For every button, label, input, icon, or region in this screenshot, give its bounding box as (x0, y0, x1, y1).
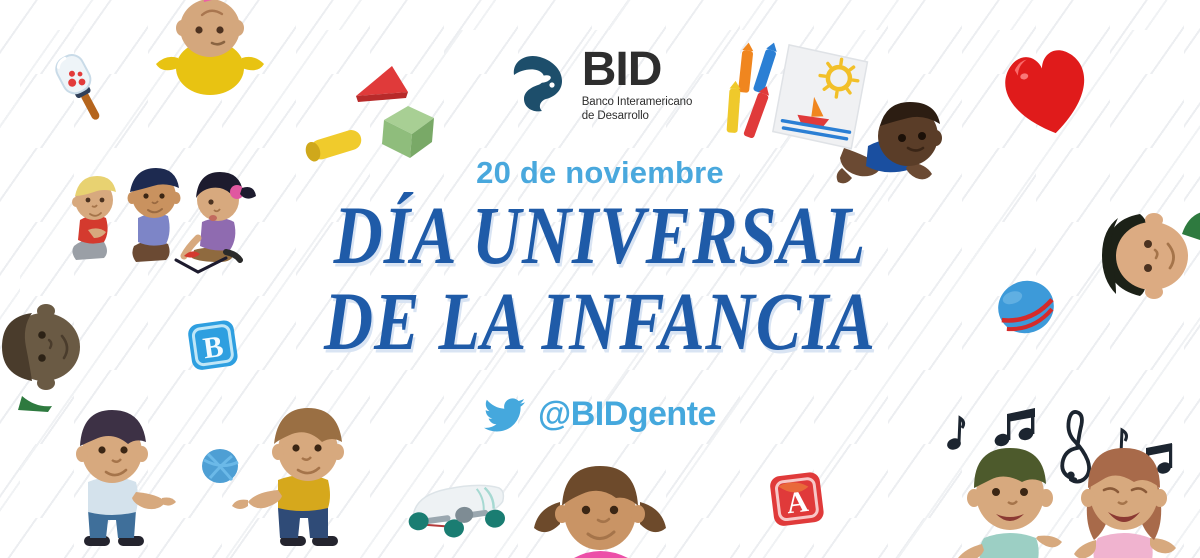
bid-subtitle-line2: de Desarrollo (582, 110, 649, 122)
page-title: DÍA UNIVERSAL DE LA INFANCIA (324, 197, 876, 347)
bid-logo: BID Banco Interamericano de Desarrollo (508, 48, 693, 123)
event-date: 20 de noviembre (476, 155, 724, 191)
twitter-handle-text[interactable]: @BIDgente (538, 395, 716, 434)
bid-wordmark: BID (582, 48, 693, 92)
bid-swoosh-logo-icon (508, 55, 572, 117)
girl-pigtails-pink (530, 462, 670, 558)
campaign-banner: B A (0, 0, 1200, 558)
two-kids-singing (952, 440, 1200, 558)
bid-subtitle: Banco Interamericano de Desarrollo (582, 95, 693, 123)
center-content: BID Banco Interamericano de Desarrollo 2… (0, 48, 1200, 434)
alphabet-block-a-letter: A (785, 485, 811, 520)
page-title-line-1: DÍA UNIVERSAL (324, 197, 876, 275)
bid-wordmark-wrap: BID Banco Interamericano de Desarrollo (582, 48, 693, 123)
bottle-toy-car (396, 474, 516, 554)
alphabet-block-a: A (768, 470, 828, 530)
twitter-bird-icon[interactable] (484, 398, 526, 432)
bid-subtitle-line1: Banco Interamericano (582, 96, 693, 108)
page-title-line-2: DE LA INFANCIA (324, 283, 876, 361)
twitter-handle[interactable]: @BIDgente (484, 395, 716, 434)
